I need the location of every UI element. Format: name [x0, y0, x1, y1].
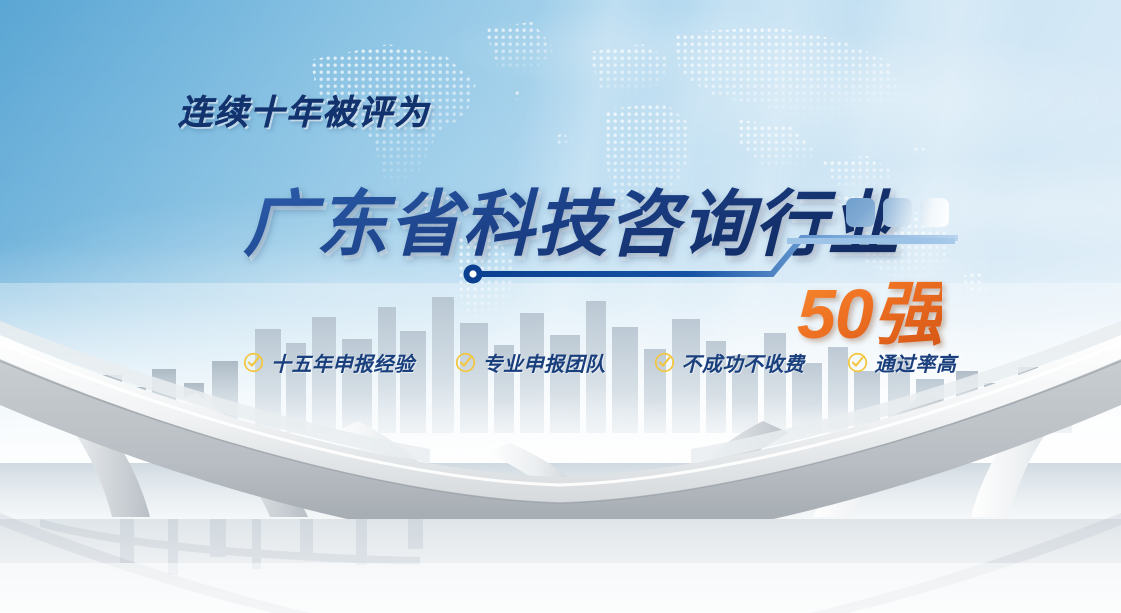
decor-squares: [846, 198, 949, 227]
check-circle-icon: [847, 352, 868, 373]
check-circle-icon: [243, 352, 264, 373]
feature-item: 通过率高: [847, 348, 957, 377]
decor-square-1: [846, 198, 875, 227]
feature-list: 十五年申报经验 专业申报团队 不成功不收费: [243, 348, 957, 377]
check-circle-icon: [654, 352, 675, 373]
feature-label: 专业申报团队: [483, 348, 606, 377]
feature-item: 不成功不收费: [654, 348, 805, 377]
feature-item: 专业申报团队: [455, 348, 606, 377]
feature-label: 通过率高: [875, 348, 957, 377]
headline-eyebrow: 连续十年被评为: [178, 85, 430, 134]
feature-label: 不成功不收费: [682, 348, 805, 377]
check-circle-icon: [455, 352, 476, 373]
accent-bar: [787, 238, 955, 244]
decor-square-2: [883, 198, 912, 227]
decor-square-3: [920, 198, 949, 227]
rank-badge: 50强: [797, 258, 942, 359]
feature-label: 十五年申报经验: [271, 348, 415, 377]
feature-item: 十五年申报经验: [243, 348, 415, 377]
promo-banner: 连续十年被评为 广东省科技咨询行业 广东省科技咨询行业: [0, 0, 1121, 613]
